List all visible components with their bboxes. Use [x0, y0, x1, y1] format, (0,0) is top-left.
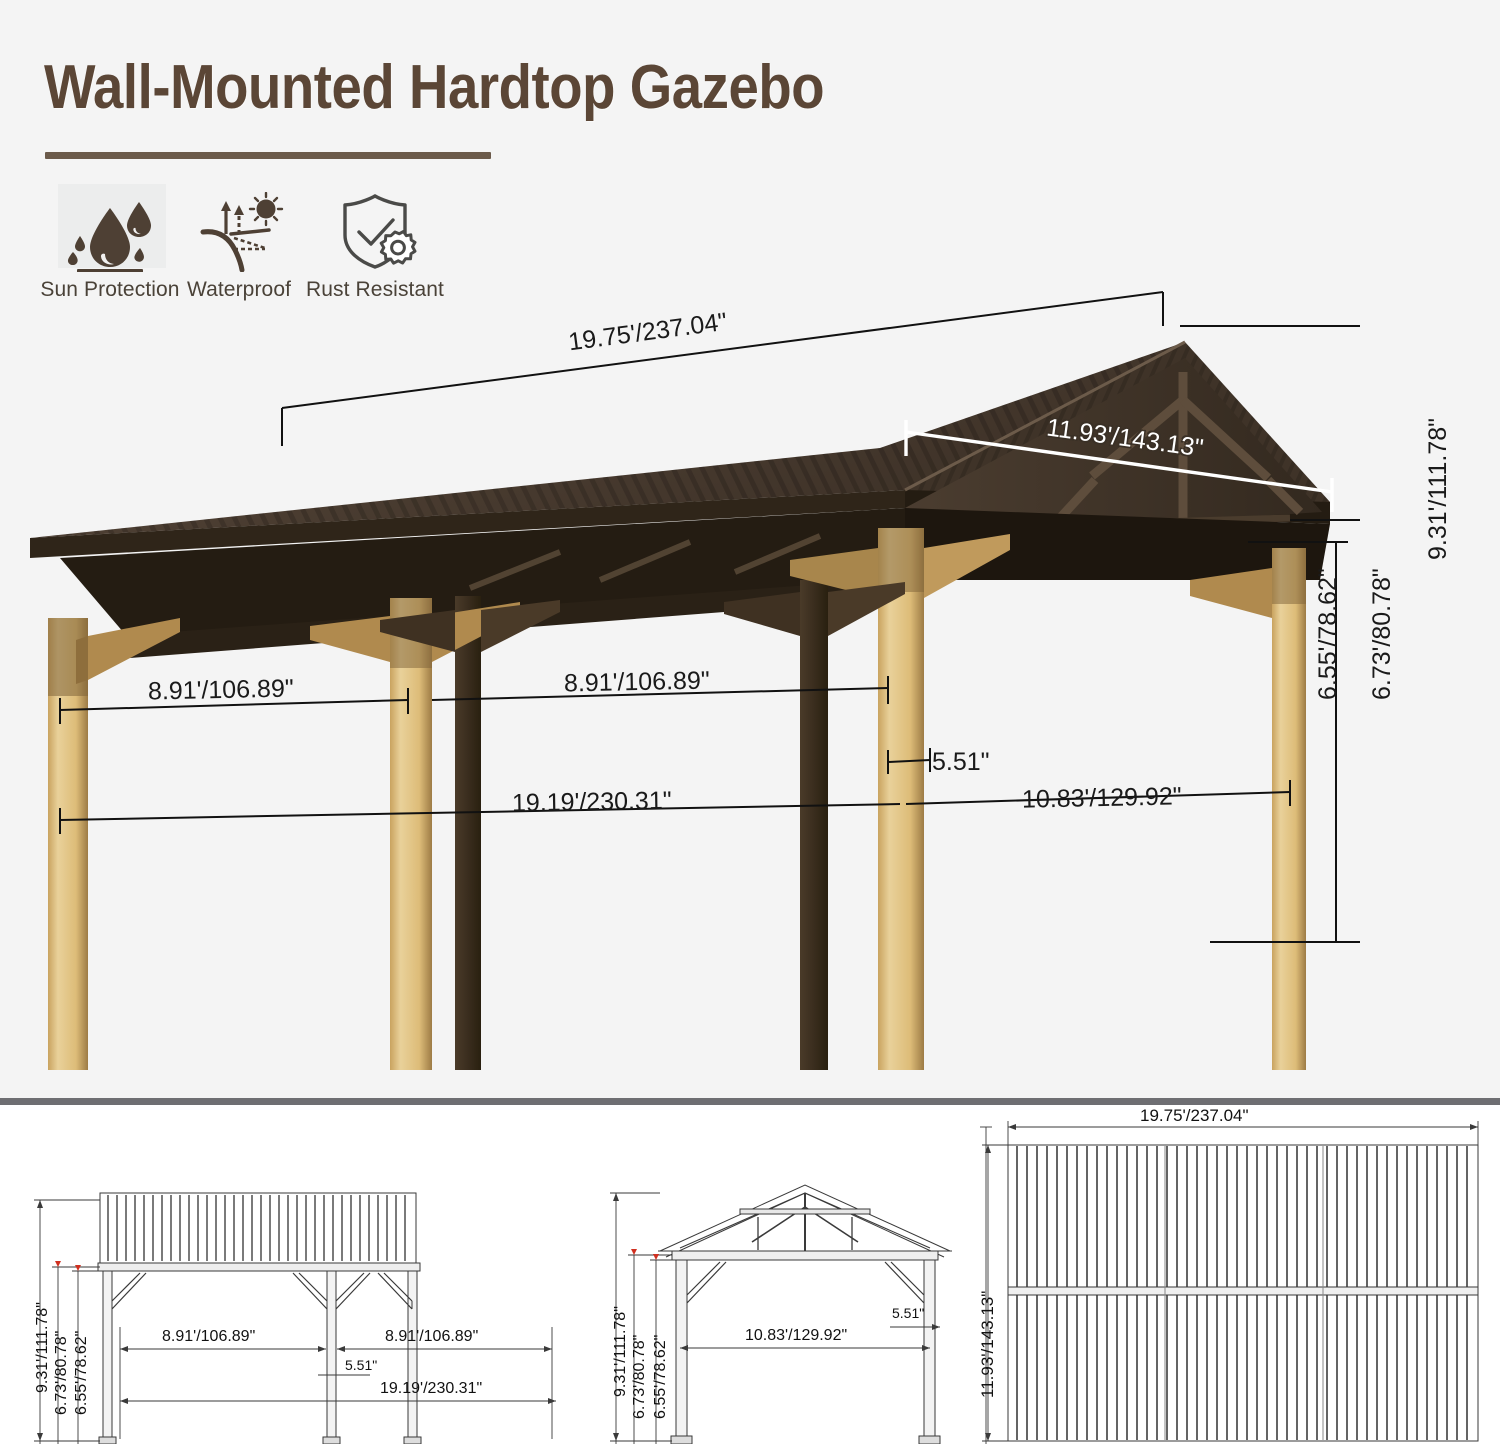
panel-divider — [0, 1098, 1500, 1105]
front-dim-overall-height: 9.31'/111.78" — [612, 1306, 630, 1397]
feature-sun-protection: Sun Protection — [40, 186, 180, 302]
dim-post-span-length: 19.19'/230.31" — [512, 787, 672, 819]
front-dim-post-width: 5.51" — [892, 1305, 924, 1321]
side-dim-clearance-height: 6.55'/78.62" — [73, 1331, 91, 1415]
product-spec-page: Wall-Mounted Hardtop Gazebo — [0, 0, 1500, 1444]
title-underline — [45, 152, 491, 159]
side-dim-total-span: 19.19'/230.31" — [380, 1380, 482, 1398]
front-dim-beam-height: 6.73'/80.78" — [631, 1335, 649, 1419]
roof-plan-top-view — [960, 1105, 1500, 1444]
sun-water-repel-icon — [193, 186, 285, 272]
hero-panel: Wall-Mounted Hardtop Gazebo — [0, 0, 1500, 1100]
dim-clearance-height: 6.55'/78.62" — [1314, 568, 1343, 700]
plan-dim-width: 11.93'/143.13" — [978, 1291, 998, 1398]
side-dim-post-width: 5.51" — [345, 1357, 377, 1373]
dim-post-span-width: 10.83'/129.92" — [1022, 782, 1182, 814]
side-dim-beam-height: 6.73'/80.78" — [53, 1331, 71, 1415]
dim-beam-height: 6.73'/80.78" — [1368, 568, 1397, 700]
dim-post-width: 5.51" — [932, 748, 990, 777]
technical-drawings-panel: 9.31'/111.78" 6.73'/80.78" 6.55'/78.62" … — [0, 1105, 1500, 1444]
dim-post-bay-left: 8.91'/106.89" — [148, 674, 294, 706]
front-dim-post-span: 10.83'/129.92" — [745, 1327, 847, 1345]
dim-overall-height: 9.31'/111.78" — [1424, 418, 1453, 560]
feature-label: Sun Protection — [40, 278, 179, 302]
plan-dim-length: 19.75'/237.04" — [1140, 1106, 1249, 1126]
shield-check-gear-icon — [331, 186, 419, 272]
water-droplet-icon — [64, 186, 156, 272]
side-dim-bay-left: 8.91'/106.89" — [162, 1328, 255, 1346]
page-title: Wall-Mounted Hardtop Gazebo — [44, 52, 824, 123]
side-dim-overall-height: 9.31'/111.78" — [34, 1302, 52, 1393]
front-dim-clearance-height: 6.55'/78.62" — [652, 1335, 670, 1419]
dim-post-bay-right: 8.91'/106.89" — [564, 666, 710, 698]
side-dim-bay-right: 8.91'/106.89" — [385, 1328, 478, 1346]
